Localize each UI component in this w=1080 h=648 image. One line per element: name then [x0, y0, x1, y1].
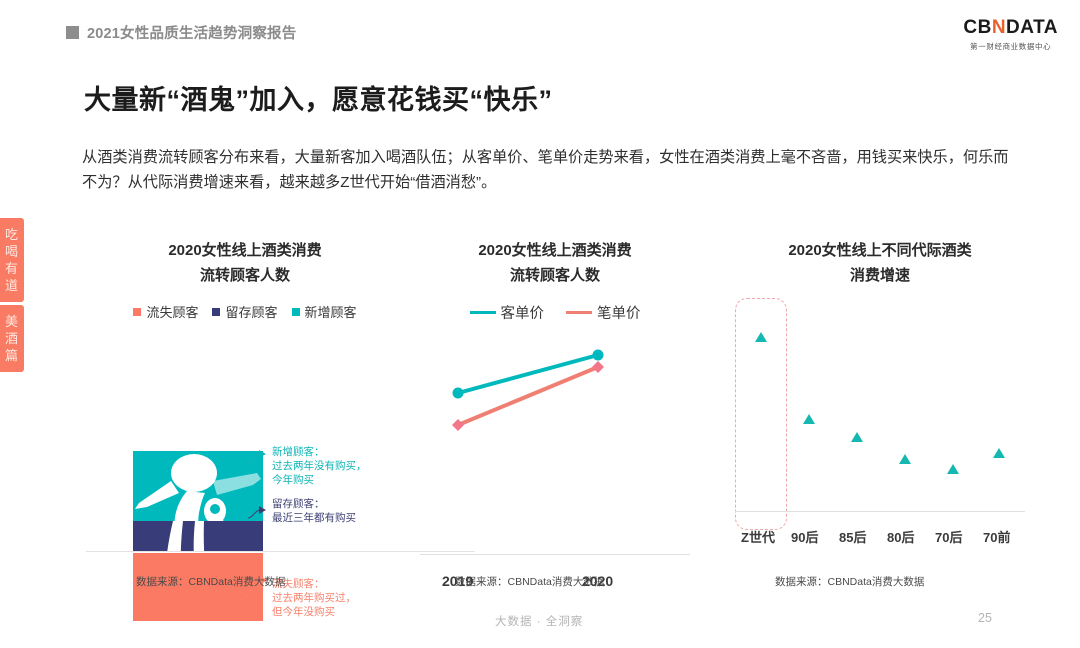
source-note-2: 数据来源：CBNData消费大数据 — [455, 574, 604, 589]
x-tick-70hou: 70后 — [935, 527, 962, 546]
header-square-icon — [66, 26, 79, 39]
chart-title-line2: 流转顾客人数 — [420, 263, 690, 288]
tab-char: 篇 — [0, 347, 24, 364]
annotation-line1: 过去两年购买过， — [272, 591, 356, 605]
chart-panel-customer-flow: 2020女性线上酒类消费 流转顾客人数 流失顾客 留存顾客 新增顾客 — [95, 238, 395, 627]
scatter-point-70hou[interactable] — [947, 464, 959, 474]
tab-char: 美 — [0, 313, 24, 330]
footer-brand: 大数据 · 全洞察 — [495, 613, 583, 629]
x-tick-90hou: 90后 — [791, 527, 818, 546]
annotation-line2: 今年购买 — [272, 473, 367, 487]
legend-item-new[interactable]: 新增顾客 — [292, 302, 357, 321]
tab-char: 道 — [0, 277, 24, 294]
slide: 2021女性品质生活趋势洞察报告 CBNDATA 第一财经商业数据中心 大量新“… — [0, 0, 1080, 648]
annotation-title: 新增顾客： — [272, 445, 367, 459]
annotation-new-customers: 新增顾客： 过去两年没有购买， 今年购买 — [272, 445, 367, 487]
tab-char: 喝 — [0, 243, 24, 260]
page-title: 大量新“酒鬼”加入，愿意花钱买“快乐” — [84, 78, 553, 117]
annotation-arrow-retained — [247, 505, 269, 521]
chart-title-3: 2020女性线上不同代际酒类 消费增速 — [735, 238, 1025, 288]
lede-paragraph: 从酒类消费流转顾客分布来看，大量新客加入喝酒队伍；从客单价、笔单价走势来看，女性… — [82, 145, 1012, 195]
legend-label-new: 新增顾客 — [305, 302, 357, 321]
chart-title-line1: 2020女性线上酒类消费 — [95, 238, 395, 263]
annotation-arrow-new — [247, 449, 269, 465]
chart-title-line1: 2020女性线上不同代际酒类 — [735, 238, 1025, 263]
tab-char: 酒 — [0, 330, 24, 347]
legend-item-retained[interactable]: 留存顾客 — [212, 302, 277, 321]
chart-title-line1: 2020女性线上酒类消费 — [420, 238, 690, 263]
scatter-point-90hou[interactable] — [803, 414, 815, 424]
source-note-1: 数据来源：CBNData消费大数据 — [136, 574, 285, 589]
point-per-order-2019 — [452, 419, 464, 431]
annotation-line1: 最近三年都有购买 — [272, 511, 356, 525]
footer-page-number: 25 — [978, 611, 992, 625]
x-tick-85hou: 85后 — [839, 527, 866, 546]
chart-title-2: 2020女性线上酒类消费 流转顾客人数 — [420, 238, 690, 288]
sidebar-tab-meijiu-pian[interactable]: 美 酒 篇 — [0, 305, 24, 372]
chart-panel-unit-price: 2020女性线上酒类消费 流转顾客人数 客单价 笔单价 2 — [420, 238, 690, 595]
scatter-plot: Z世代 90后 85后 80后 70后 70前 — [735, 302, 1025, 552]
scatter-point-70qian[interactable] — [993, 448, 1005, 458]
legend-label-lost: 流失顾客 — [146, 302, 198, 321]
scatter-point-80hou[interactable] — [899, 454, 911, 464]
bar-segment-new-customers[interactable] — [133, 451, 263, 521]
chart-legend-2: 客单价 笔单价 — [420, 302, 690, 323]
legend-item-lost[interactable]: 流失顾客 — [133, 302, 198, 321]
x-axis-line — [735, 511, 1025, 512]
line-plot: 2019 2020 — [420, 345, 690, 595]
x-axis-line — [420, 554, 690, 555]
annotation-retained-customers: 留存顾客： 最近三年都有购买 — [272, 497, 356, 525]
point-per-customer-2020 — [593, 350, 604, 361]
x-tick-70qian: 70前 — [983, 527, 1010, 546]
point-per-customer-2019 — [453, 388, 464, 399]
cbndata-logo: CBNDATA 第一财经商业数据中心 — [963, 18, 1058, 52]
chart-panel-generation-growth: 2020女性线上不同代际酒类 消费增速 Z世代 90后 85后 80后 70后 … — [735, 238, 1025, 552]
source-note-3: 数据来源：CBNData消费大数据 — [775, 574, 924, 589]
chart-title-1: 2020女性线上酒类消费 流转顾客人数 — [95, 238, 395, 288]
x-tick-80hou: 80后 — [887, 527, 914, 546]
chart-title-line2: 流转顾客人数 — [95, 263, 395, 288]
logo-wordmark: CBNDATA — [963, 18, 1058, 37]
legend-swatch-lost — [133, 308, 141, 316]
legend-label-per-order: 笔单价 — [597, 302, 641, 323]
chart-title-line2: 消费增速 — [735, 263, 1025, 288]
annotation-line1: 过去两年没有购买， — [272, 459, 367, 473]
legend-swatch-new — [292, 308, 300, 316]
scatter-point-gen-z[interactable] — [755, 332, 767, 342]
legend-line-per-order — [566, 311, 592, 314]
woman-silhouette-icon — [133, 451, 263, 521]
woman-silhouette-lower-icon — [133, 521, 263, 551]
annotation-line2: 但今年没购买 — [272, 605, 356, 619]
legend-item-per-order[interactable]: 笔单价 — [566, 302, 641, 323]
point-per-order-2020 — [592, 361, 604, 373]
legend-label-retained: 留存顾客 — [225, 302, 277, 321]
annotation-title: 留存顾客： — [272, 497, 356, 511]
bar-segment-retained-customers[interactable] — [133, 521, 263, 551]
sidebar-tab-chihe-youdao[interactable]: 吃 喝 有 道 — [0, 218, 24, 302]
tab-char: 有 — [0, 260, 24, 277]
legend-label-per-customer: 客单价 — [501, 302, 545, 323]
header-title: 2021女性品质生活趋势洞察报告 — [87, 22, 296, 43]
slide-header: 2021女性品质生活趋势洞察报告 — [66, 22, 296, 43]
line-series-svg — [420, 345, 690, 555]
tab-char: 吃 — [0, 226, 24, 243]
logo-subtitle: 第一财经商业数据中心 — [963, 41, 1058, 52]
chart-legend-1: 流失顾客 留存顾客 新增顾客 — [95, 302, 395, 321]
legend-line-per-customer — [470, 311, 496, 314]
legend-swatch-retained — [212, 308, 220, 316]
legend-item-per-customer[interactable]: 客单价 — [470, 302, 545, 323]
gridline — [86, 551, 475, 552]
x-tick-gen-z: Z世代 — [741, 527, 775, 546]
scatter-point-85hou[interactable] — [851, 432, 863, 442]
